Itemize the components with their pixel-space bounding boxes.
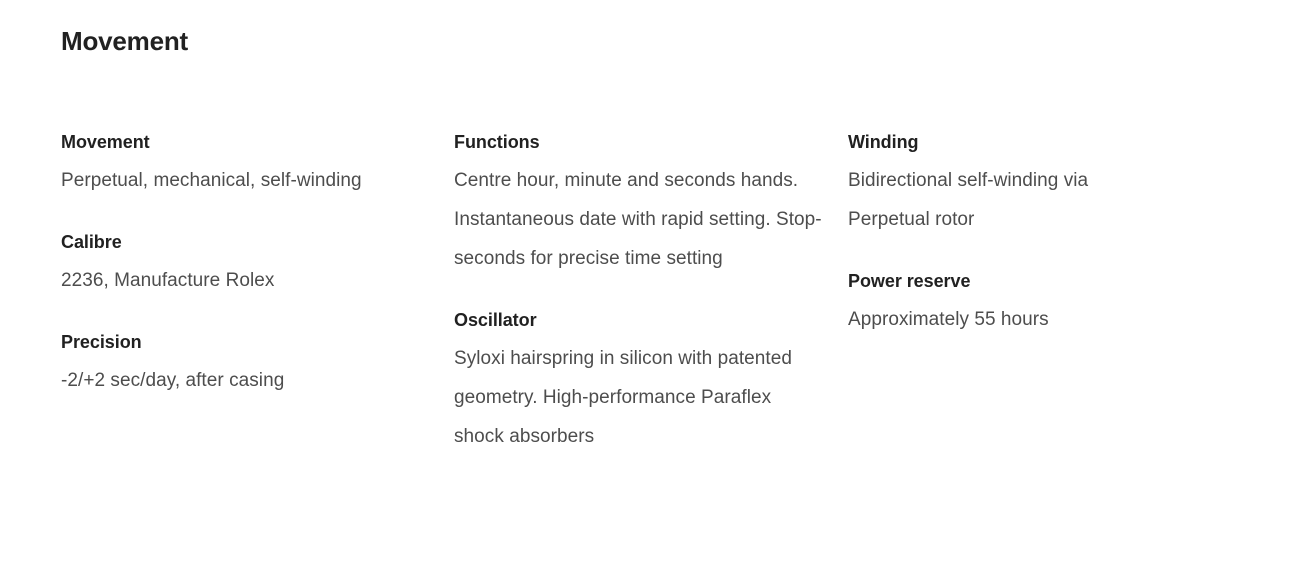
spec-term-winding: Winding (848, 129, 1241, 155)
spec-term-functions: Functions (454, 129, 848, 155)
movement-specifications-page: Movement Movement Perpetual, mechanical,… (0, 0, 1294, 565)
spec-desc-movement: Perpetual, mechanical, self-winding (61, 161, 431, 200)
spec-desc-functions: Centre hour, minute and seconds hands. I… (454, 161, 822, 278)
spec-item-precision: Precision -2/+2 sec/day, after casing (61, 329, 454, 400)
spec-term-power-reserve: Power reserve (848, 268, 1241, 294)
page-title: Movement (61, 24, 188, 58)
spec-desc-power-reserve: Approximately 55 hours (848, 300, 1148, 339)
spec-column-1: Movement Perpetual, mechanical, self-win… (61, 129, 454, 400)
spec-term-movement: Movement (61, 129, 454, 155)
spec-item-winding: Winding Bidirectional self-winding via P… (848, 129, 1241, 239)
spec-term-precision: Precision (61, 329, 454, 355)
spec-desc-precision: -2/+2 sec/day, after casing (61, 361, 431, 400)
spec-desc-winding: Bidirectional self-winding via Perpetual… (848, 161, 1148, 239)
specifications-grid: Movement Perpetual, mechanical, self-win… (61, 129, 1241, 456)
spec-desc-calibre: 2236, Manufacture Rolex (61, 261, 431, 300)
spec-column-3: Winding Bidirectional self-winding via P… (848, 129, 1241, 339)
spec-term-oscillator: Oscillator (454, 307, 848, 333)
spec-item-oscillator: Oscillator Syloxi hairspring in silicon … (454, 307, 848, 456)
spec-item-functions: Functions Centre hour, minute and second… (454, 129, 848, 278)
spec-desc-oscillator: Syloxi hairspring in silicon with patent… (454, 339, 822, 456)
spec-item-power-reserve: Power reserve Approximately 55 hours (848, 268, 1241, 339)
spec-item-movement: Movement Perpetual, mechanical, self-win… (61, 129, 454, 200)
spec-term-calibre: Calibre (61, 229, 454, 255)
spec-column-2: Functions Centre hour, minute and second… (454, 129, 848, 456)
spec-item-calibre: Calibre 2236, Manufacture Rolex (61, 229, 454, 300)
